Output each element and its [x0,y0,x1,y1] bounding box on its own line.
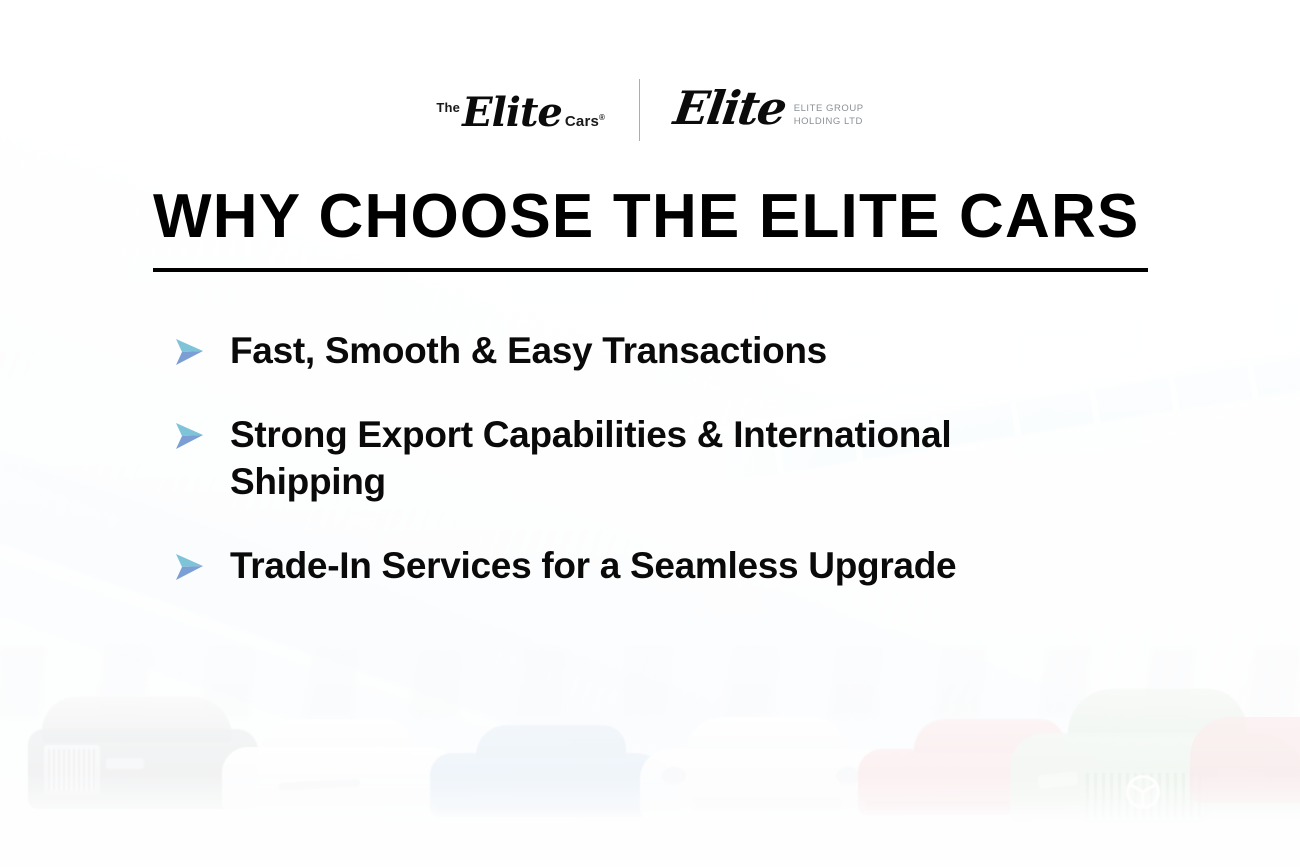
list-item: Trade-In Services for a Seamless Upgrade [172,543,1172,589]
logo-elite-signature: Elite [671,85,788,131]
logo-the-text: The [436,100,460,115]
list-item: Strong Export Capabilities & Internation… [172,412,1172,505]
logo-the-elite-cars: The Elite Cars® [436,89,605,136]
list-item-label: Strong Export Capabilities & Internation… [230,412,1020,505]
logo-bar: The Elite Cars® Elite ELITE GROUP HOLDIN… [0,74,1300,146]
slide-root: The Elite Cars® Elite ELITE GROUP HOLDIN… [0,0,1300,867]
logo-elite-group-holding: Elite ELITE GROUP HOLDING LTD [674,87,863,133]
title-underline-rule [153,268,1148,272]
logo-elite-script: Elite [462,89,562,136]
list-item: Fast, Smooth & Easy Transactions [172,328,1172,374]
benefits-list: Fast, Smooth & Easy Transactions Strong … [172,328,1172,589]
logo-group-wordmark: ELITE GROUP HOLDING LTD [794,102,864,128]
page-title: WHY CHOOSE THE ELITE CARS [153,186,1140,248]
logo-cars-word: Cars [565,113,599,130]
logo-group-line2: HOLDING LTD [794,115,864,128]
logo-divider [639,79,640,141]
arrow-bullet-icon [172,335,206,369]
registered-mark-icon: ® [599,113,605,122]
logo-group-line1: ELITE GROUP [794,102,864,115]
arrow-bullet-icon [172,419,206,453]
list-item-label: Trade-In Services for a Seamless Upgrade [230,543,956,589]
logo-cars-text: Cars® [565,113,605,130]
arrow-bullet-icon [172,550,206,584]
list-item-label: Fast, Smooth & Easy Transactions [230,328,827,374]
